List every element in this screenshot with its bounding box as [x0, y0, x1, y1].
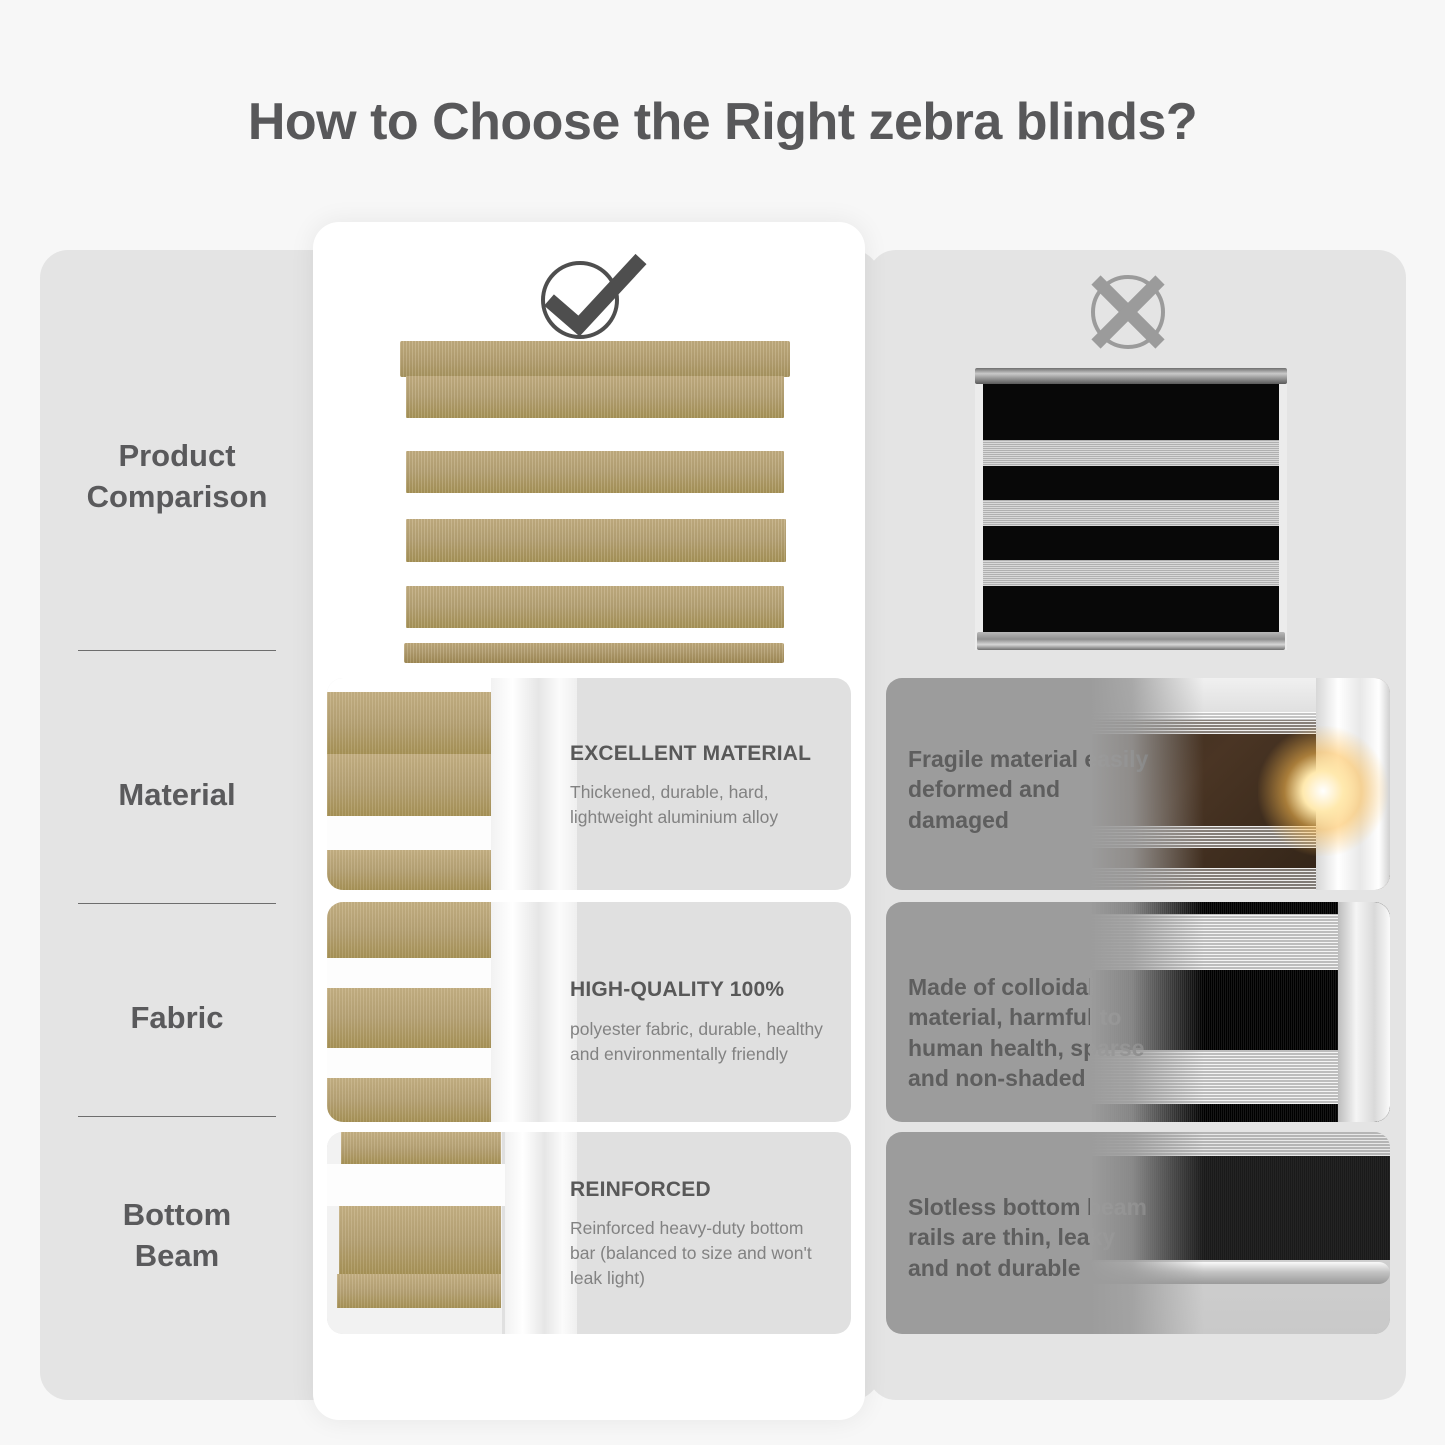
blind-slat — [406, 451, 784, 493]
blind-fabric — [983, 384, 1279, 632]
row-label-line1: Bottom — [123, 1197, 231, 1232]
blind-bottom-rail — [977, 632, 1285, 650]
row-label-bottom-beam: Bottom Beam — [40, 1195, 314, 1277]
feature-body: polyester fabric, durable, healthy and e… — [570, 1017, 832, 1067]
blind-bottom-bar — [404, 643, 784, 663]
beige-zebra-blind-image — [392, 341, 790, 664]
thin-bottom-rail-closeup-image — [1090, 1132, 1390, 1334]
feature-card-material-bad: Fragile material easily deformed and dam… — [886, 678, 1390, 890]
sheer-band — [983, 440, 1279, 466]
row-divider-2 — [78, 903, 276, 904]
feature-card-fabric-bad: Made of colloidal material, harmful to h… — [886, 902, 1390, 1122]
row-label-line2: Beam — [135, 1238, 219, 1273]
infographic-page: How to Choose the Right zebra blinds? Pr… — [0, 0, 1445, 1445]
sheer-band — [983, 500, 1279, 526]
row-label-material: Material — [40, 775, 314, 816]
check-circle-icon — [525, 252, 655, 342]
feature-card-material-good: EXCELLENT MATERIAL Thickened, durable, h… — [327, 678, 851, 890]
feature-body: Reinforced heavy-duty bottom bar (balanc… — [570, 1216, 832, 1291]
beige-blind-fabric-closeup-image — [327, 902, 577, 1122]
blind-slat — [406, 376, 784, 418]
feature-title: EXCELLENT MATERIAL — [570, 742, 811, 766]
sun-glare-through-window-image — [1090, 678, 1390, 890]
feature-card-bottom-beam-good: REINFORCED Reinforced heavy-duty bottom … — [327, 1132, 851, 1334]
blind-slat — [406, 586, 784, 628]
beige-blind-headrail-closeup-image — [327, 678, 577, 890]
black-striped-fabric-closeup-image — [1090, 902, 1390, 1122]
blind-top-rail — [975, 368, 1287, 384]
row-label-line2: Comparison — [87, 479, 268, 514]
feature-card-bottom-beam-bad: Slotless bottom beam rails are thin, lea… — [886, 1132, 1390, 1334]
beige-blind-bottom-bar-closeup-image — [327, 1132, 577, 1334]
blind-slat — [406, 519, 786, 562]
row-divider-1 — [78, 650, 276, 651]
feature-title: HIGH-QUALITY 100% — [570, 978, 784, 1002]
feature-card-fabric-good: HIGH-QUALITY 100% polyester fabric, dura… — [327, 902, 851, 1122]
row-label-product-comparison: Product Comparison — [40, 436, 314, 518]
row-divider-3 — [78, 1116, 276, 1117]
row-label-line1: Product — [118, 438, 235, 473]
feature-body: Thickened, durable, hard, lightweight al… — [570, 780, 832, 830]
row-label-fabric: Fabric — [40, 998, 314, 1039]
sheer-band — [983, 560, 1279, 586]
feature-title: REINFORCED — [570, 1178, 711, 1202]
page-title: How to Choose the Right zebra blinds? — [0, 92, 1445, 152]
row-label-column: Product Comparison Material Fabric Botto… — [40, 250, 314, 1400]
black-zebra-blind-image — [975, 368, 1287, 650]
cross-circle-icon — [1078, 266, 1178, 358]
blind-headrail — [400, 341, 790, 377]
